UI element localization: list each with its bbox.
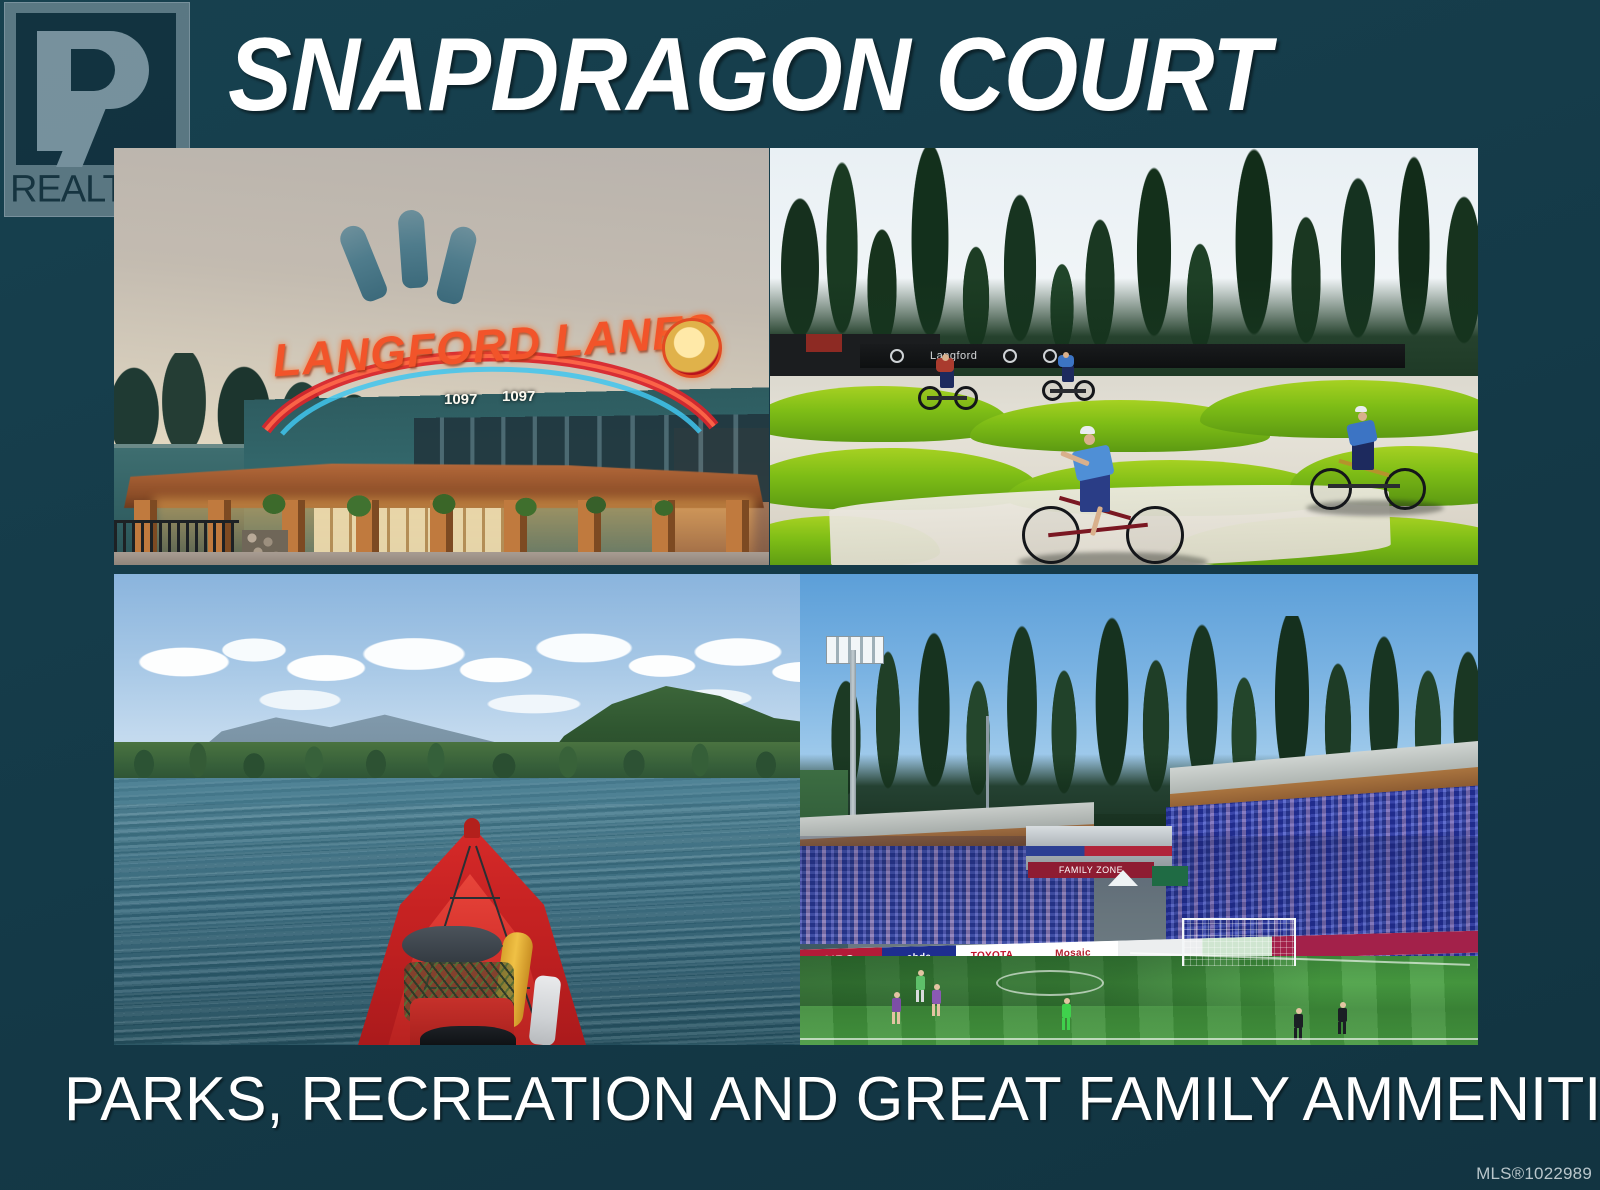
bike-wheel [1126,506,1184,564]
cyclist-background [1042,352,1098,402]
rider-head [1084,434,1095,445]
realtor-r-counter [71,49,115,91]
player-legs [892,1012,900,1024]
address-number: 1097 [444,391,477,408]
rider-head [1358,412,1367,421]
floodlight-tower [850,650,856,840]
rider-head [1063,352,1069,358]
player-torso [1294,1014,1303,1028]
cyclist-foreground [1022,420,1190,565]
bike-frame [1050,389,1086,393]
helmet-icon [1355,406,1367,412]
player-torso [932,990,941,1004]
concession-stall [1152,866,1188,886]
flyer-caption: PARKS, RECREATION AND GREAT FAMILY AMMEN… [64,1068,1502,1132]
helmet-icon [1080,426,1095,434]
player-legs [932,1004,940,1016]
address-number: 1097 [502,388,535,405]
player-torso [916,976,925,990]
building-stripe [1026,846,1172,856]
photo-kayaking-lake [114,574,826,1045]
sponsor-mark-icon [890,349,904,363]
center-circle [996,970,1104,996]
kayak-bow-tip [464,818,480,838]
family-zone-banner: FAMILY ZONE [1028,862,1154,878]
ramp-accent [806,334,842,352]
photo-bike-pump-track: Langford [770,148,1478,565]
bowling-pin-icon [397,209,428,289]
bike-frame [1328,484,1400,488]
bike-frame [927,396,967,400]
cyclist-background [918,354,980,410]
player-torso [892,998,901,1012]
goal-net [1182,918,1296,966]
kayak-cockpit [420,1026,516,1045]
player-torso [1338,1008,1347,1022]
photo-langford-lanes: LANGFORD LANES 1097 1097 [114,148,769,565]
bowling-badge-icon [662,318,722,378]
rider-head [942,354,949,361]
dry-bag [402,926,502,964]
pitch-touchline [800,1038,1478,1040]
paver-walkway [114,552,769,565]
cyclist-right [1310,406,1430,516]
mls-number: MLS®1022989 [1476,1164,1592,1184]
player-torso [1062,1004,1071,1018]
photo-soccer-stadium: FAMILY ZONE CIBC abda TOYOTA Mosaic [800,574,1478,1045]
sponsor-mark-icon [1003,349,1017,363]
player-legs [916,990,924,1002]
player-legs [1338,1022,1346,1034]
shoreline-trees [114,738,826,782]
marketing-flyer: SNAPDRAGON COURT REALTOR® LANGF [0,0,1600,1190]
player-legs [1062,1018,1070,1030]
realtor-r-icon [16,13,176,165]
page-title: SNAPDRAGON COURT [228,14,1268,136]
bike-wheel [1310,468,1352,510]
bike-wheel [1384,468,1426,510]
